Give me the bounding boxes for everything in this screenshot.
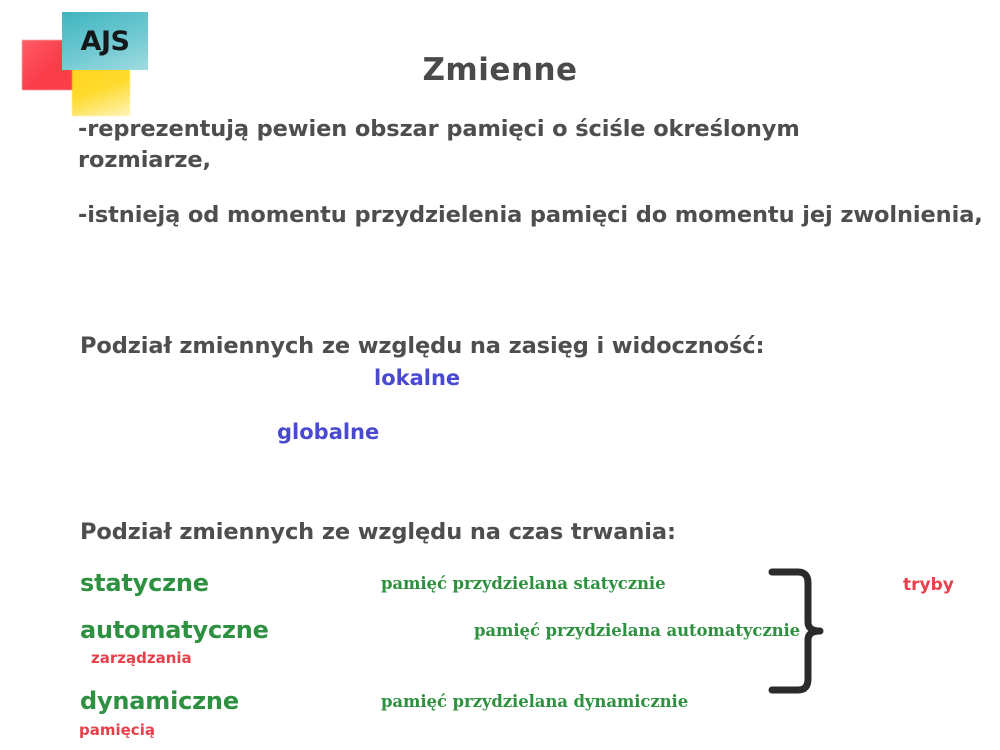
annotation-zarzadzania: zarządzania <box>91 649 192 667</box>
bullet-item: -istnieją od momentu przydzielenia pamię… <box>78 200 988 231</box>
duration-row-name-statyczne: statyczne <box>80 569 209 597</box>
duration-row-description-automatyczne: pamięć przydzielana automatycznie <box>474 621 800 640</box>
duration-row-name-automatyczne: automatyczne <box>80 616 269 644</box>
slide-title: Zmienne <box>0 52 1000 88</box>
presentation-slide: AJS Zmienne -reprezentują pewien obszar … <box>0 0 1000 750</box>
scope-section-heading: Podział zmiennych ze względu na zasięg i… <box>80 333 764 359</box>
bullet-item: -reprezentują pewien obszar pamięci o śc… <box>78 114 838 176</box>
scope-item-globalne: globalne <box>277 420 379 444</box>
annotation-pamiecia: pamięcią <box>79 721 155 739</box>
scope-item-lokalne: lokalne <box>374 366 460 390</box>
annotation-tryby: tryby <box>903 575 954 595</box>
curly-brace-icon <box>768 566 830 696</box>
duration-section-heading: Podział zmiennych ze względu na czas trw… <box>80 519 676 545</box>
duration-row-description-dynamiczne: pamięć przydzielana dynamicznie <box>381 692 688 711</box>
duration-row-description-statyczne: pamięć przydzielana statycznie <box>381 574 666 593</box>
duration-row-name-dynamiczne: dynamiczne <box>80 687 239 715</box>
